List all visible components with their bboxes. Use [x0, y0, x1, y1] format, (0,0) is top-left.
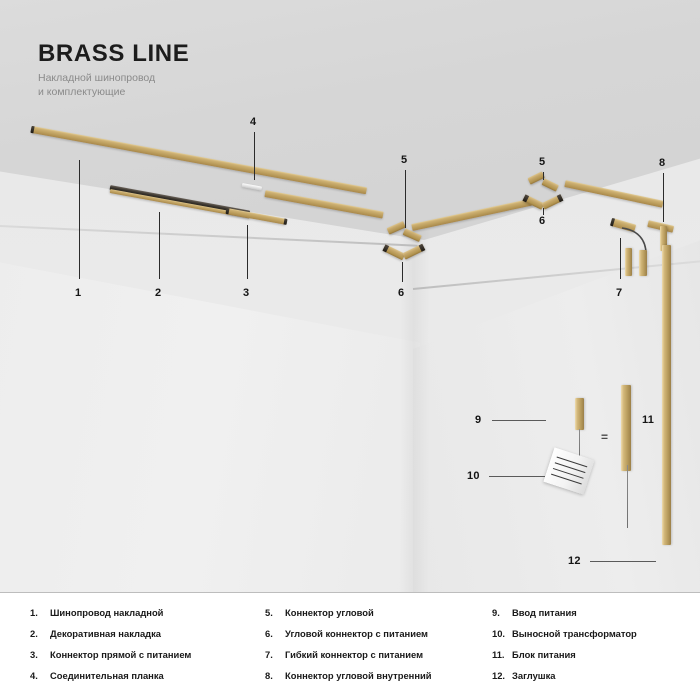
legend-item-number: 5.: [265, 607, 285, 619]
legend-item: 2. Декоративная накладка: [30, 628, 265, 640]
legend-item: 11. Блок питания: [492, 649, 700, 661]
connector-end-cap-left: [225, 208, 229, 214]
callout-number-8: 8: [659, 157, 665, 169]
legend-item-label: Декоративная накладка: [50, 628, 161, 640]
legend-item: 9. Ввод питания: [492, 607, 700, 619]
flexible-connector-head-cap: [610, 218, 615, 227]
power-feed-in: [575, 398, 584, 430]
page-subtitle: Накладной шинопровод и комплектующие: [38, 71, 155, 99]
callout-number-2: 2: [155, 287, 161, 299]
callout-number-6b: 6: [539, 215, 545, 227]
legend-item-number: 10.: [492, 628, 512, 640]
leader-line-2: [159, 212, 160, 279]
legend-item-label: Шинопровод накладной: [50, 607, 163, 619]
flexible-connector-tail: [639, 250, 647, 276]
legend-item: 1. Шинопровод накладной: [30, 607, 265, 619]
legend-item-number: 6.: [265, 628, 285, 640]
callout-number-5b: 5: [539, 156, 545, 168]
legend-item-number: 7.: [265, 649, 285, 661]
left-wall-surface: [0, 190, 420, 592]
legend-item: 8. Коннектор угловой внутренний: [265, 670, 493, 682]
leader-line-12: [590, 561, 656, 562]
legend-item: 3. Коннектор прямой с питанием: [30, 649, 265, 661]
legend-item-number: 9.: [492, 607, 512, 619]
transformer-label-line-1: [556, 457, 587, 468]
product-diagram-page: BRASS LINE Накладной шинопровод и компле…: [0, 0, 700, 700]
leader-line-7: [620, 238, 621, 279]
legend-item-label: Коннектор угловой внутренний: [285, 670, 432, 682]
legend-item-label: Заглушка: [512, 670, 556, 682]
leader-line-4: [254, 132, 255, 180]
legend-item-number: 8.: [265, 670, 285, 682]
legend-item: 10. Выносной трансформатор: [492, 628, 700, 640]
legend-panel: 1. Шинопровод накладной 2. Декоративная …: [0, 593, 700, 700]
product-scene: BRASS LINE Накладной шинопровод и компле…: [0, 0, 700, 592]
leader-line-6b: [543, 208, 544, 215]
powered-corner-a-tip-left: [382, 244, 389, 252]
legend-item-number: 12.: [492, 670, 512, 682]
track-end-cap-left: [30, 126, 34, 133]
callout-number-10: 10: [467, 470, 480, 482]
legend-item-label: Блок питания: [512, 649, 576, 661]
subtitle-line-2: и комплектующие: [38, 85, 155, 99]
legend-column-3: 9. Ввод питания 10. Выносной трансформат…: [492, 607, 700, 691]
legend-item-label: Соединительная планка: [50, 670, 164, 682]
room-corner-shading: [400, 230, 430, 592]
callout-number-6a: 6: [398, 287, 404, 299]
legend-item-number: 2.: [30, 628, 50, 640]
callout-number-12: 12: [568, 555, 581, 567]
leader-line-5b: [543, 172, 544, 180]
subtitle-line-1: Накладной шинопровод: [38, 71, 155, 85]
leader-line-5a: [405, 170, 406, 228]
legend-item: 6. Угловой коннектор с питанием: [265, 628, 493, 640]
legend-item-label: Ввод питания: [512, 607, 577, 619]
end-cap-piece: [625, 248, 632, 276]
legend-item-label: Выносной трансформатор: [512, 628, 637, 640]
legend-item-number: 4.: [30, 670, 50, 682]
leader-line-10: [489, 476, 545, 477]
power-supply-profile-alt-wire: [627, 465, 628, 528]
power-supply-profile-alt: [621, 385, 631, 471]
legend-item-label: Коннектор угловой: [285, 607, 374, 619]
leader-line-8: [663, 173, 664, 222]
legend-item-label: Угловой коннектор с питанием: [285, 628, 428, 640]
connector-end-cap-right: [284, 219, 288, 225]
legend-item: 7. Гибкий коннектор с питанием: [265, 649, 493, 661]
leader-line-1: [79, 160, 80, 279]
legend-item: 5. Коннектор угловой: [265, 607, 493, 619]
legend-item-label: Гибкий коннектор с питанием: [285, 649, 423, 661]
equals-symbol: =: [601, 430, 608, 444]
callout-number-1: 1: [75, 287, 81, 299]
legend-item: 12. Заглушка: [492, 670, 700, 682]
legend-column-1: 1. Шинопровод накладной 2. Декоративная …: [30, 607, 265, 691]
callout-number-4: 4: [250, 116, 256, 128]
page-title: BRASS LINE: [38, 40, 189, 68]
leader-line-6a: [402, 262, 403, 282]
legend-item: 4. Соединительная планка: [30, 670, 265, 682]
leader-line-3: [247, 225, 248, 279]
legend-item-label: Коннектор прямой с питанием: [50, 649, 191, 661]
legend-item-number: 1.: [30, 607, 50, 619]
leader-line-9: [492, 420, 546, 421]
callout-number-9: 9: [475, 414, 481, 426]
power-supply-profile: [662, 245, 671, 545]
callout-number-5a: 5: [401, 154, 407, 166]
legend-column-2: 5. Коннектор угловой 6. Угловой коннекто…: [265, 607, 493, 691]
legend-item-number: 11.: [492, 649, 512, 661]
legend-item-number: 3.: [30, 649, 50, 661]
callout-number-11: 11: [642, 414, 654, 426]
callout-number-7: 7: [616, 287, 622, 299]
callout-number-3: 3: [243, 287, 249, 299]
